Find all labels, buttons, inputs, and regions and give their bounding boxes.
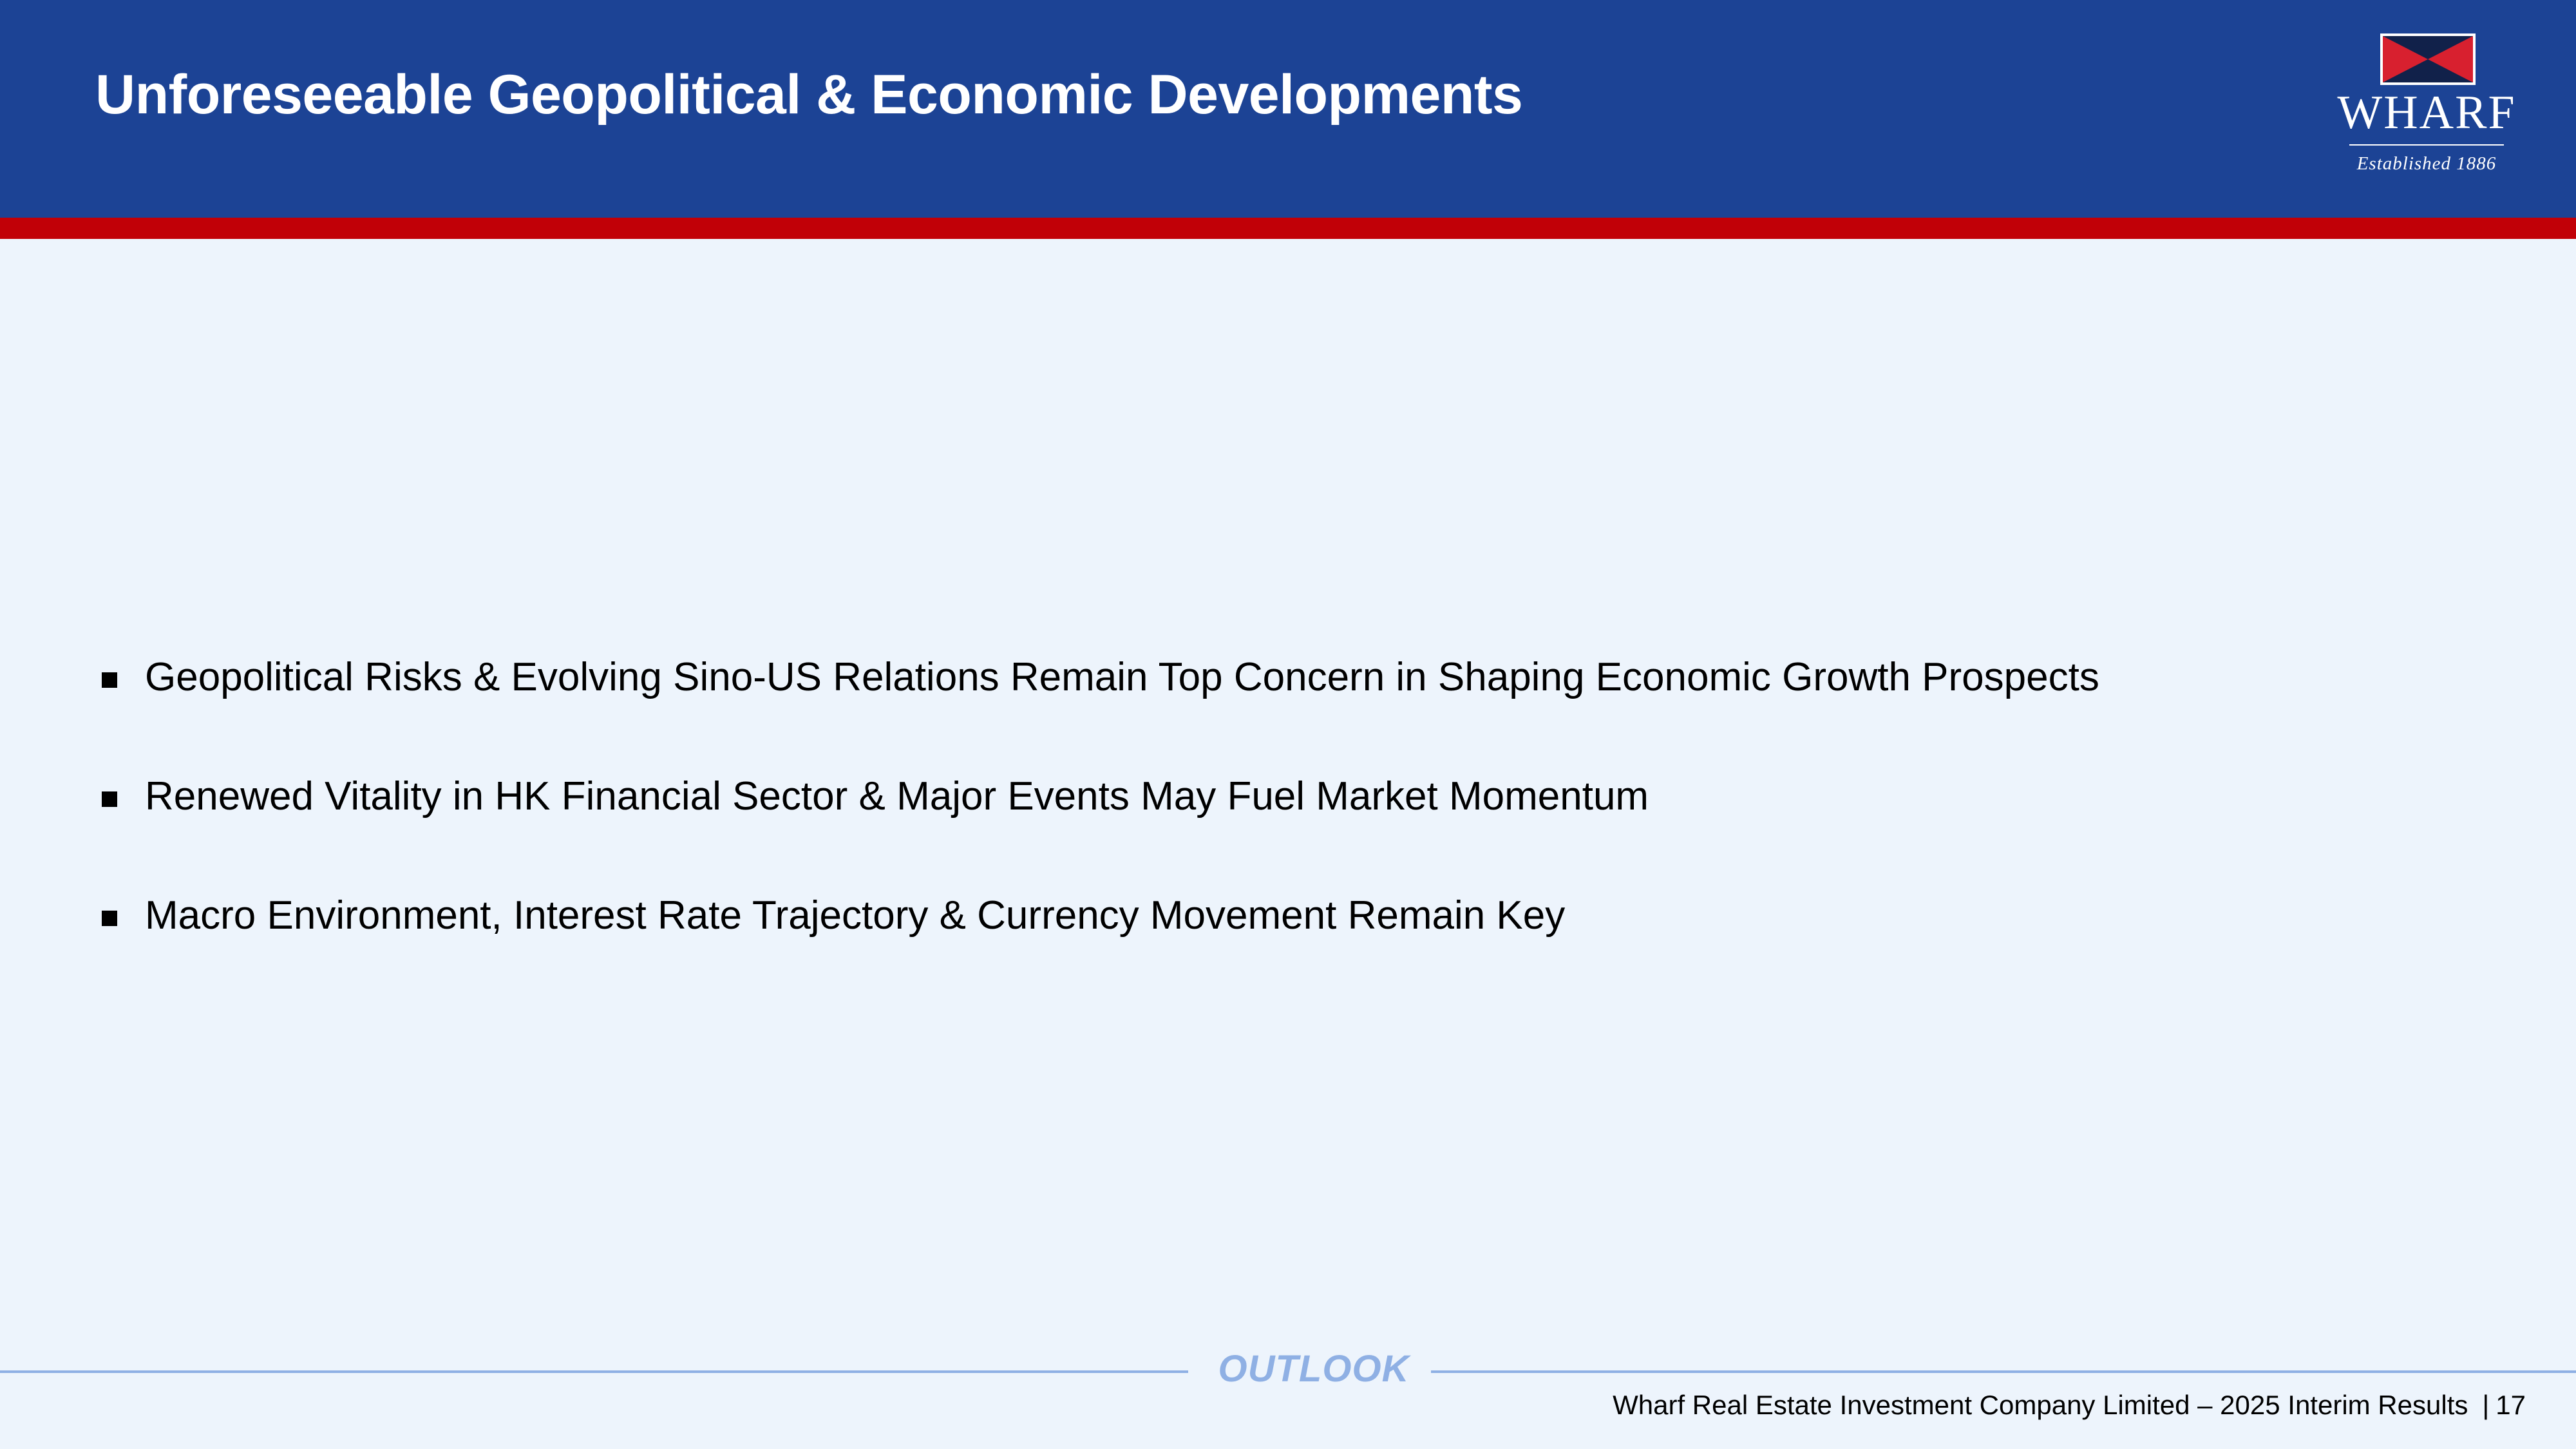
logo-established-text: Established 1886 <box>2330 153 2523 175</box>
header-accent-rule <box>0 218 2576 239</box>
list-item-label: Renewed Vitality in HK Financial Sector … <box>145 770 1649 824</box>
square-bullet-icon <box>102 672 117 688</box>
page-title: Unforeseeable Geopolitical & Economic De… <box>95 63 1522 127</box>
list-item-label: Macro Environment, Interest Rate Traject… <box>145 889 1565 943</box>
footer-company-line: Wharf Real Estate Investment Company Lim… <box>1613 1390 2468 1420</box>
divider-line-right <box>1431 1370 2576 1373</box>
list-item: Renewed Vitality in HK Financial Sector … <box>97 770 2479 889</box>
flag-inner-shape <box>2383 36 2473 82</box>
list-item: Macro Environment, Interest Rate Traject… <box>97 889 2479 1008</box>
wharf-flag-icon <box>2380 33 2476 85</box>
wharf-logo: WHARF Established 1886 <box>2330 33 2523 183</box>
footer-page-number: 17 <box>2495 1390 2526 1420</box>
presentation-slide: Unforeseeable Geopolitical & Economic De… <box>0 0 2576 1449</box>
footer-separator: | <box>2468 1390 2495 1420</box>
bullet-list: Geopolitical Risks & Evolving Sino-US Re… <box>97 650 2479 1008</box>
divider-line-left <box>0 1370 1188 1373</box>
section-divider: OUTLOOK <box>0 1347 2576 1396</box>
footer: Wharf Real Estate Investment Company Lim… <box>1613 1390 2526 1421</box>
list-item: Geopolitical Risks & Evolving Sino-US Re… <box>97 650 2479 770</box>
section-label: OUTLOOK <box>1207 1347 1420 1390</box>
square-bullet-icon <box>102 791 117 807</box>
list-item-label: Geopolitical Risks & Evolving Sino-US Re… <box>145 650 2099 705</box>
logo-divider <box>2349 144 2504 146</box>
square-bullet-icon <box>102 911 117 926</box>
logo-wordmark: WHARF <box>2330 89 2523 137</box>
